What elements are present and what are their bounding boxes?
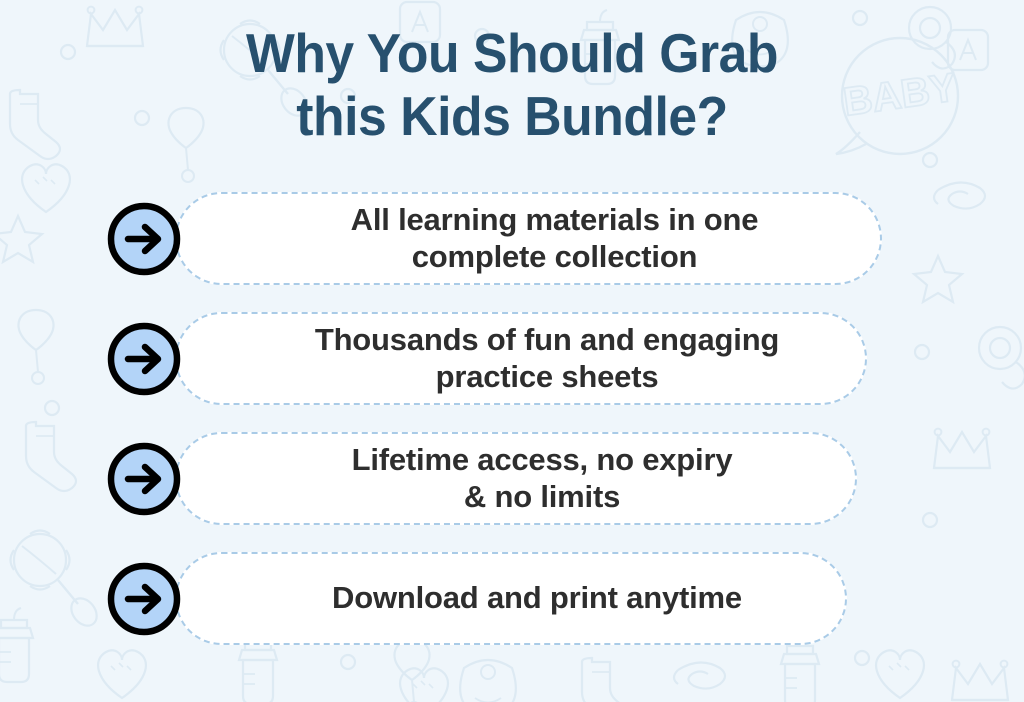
benefit-pill: Thousands of fun and engaging practice s…	[175, 312, 867, 405]
benefit-pill: Download and print anytime	[175, 552, 847, 645]
benefits-list: All learning materials in one complete c…	[0, 192, 1024, 672]
arrow-right-circle-icon	[105, 320, 183, 398]
benefit-label: Thousands of fun and engaging practice s…	[237, 322, 805, 395]
page-title-line-1: Why You Should Grab	[31, 26, 994, 81]
benefit-item: Download and print anytime	[0, 552, 1024, 645]
benefit-label: All learning materials in one complete c…	[273, 202, 785, 275]
arrow-right-circle-icon	[105, 440, 183, 518]
poster-canvas: Why You Should Grab this Kids Bundle? Al…	[0, 0, 1024, 702]
benefit-item: Lifetime access, no expiry & no limits	[0, 432, 1024, 525]
page-title: Why You Should Grab this Kids Bundle?	[0, 26, 1024, 144]
arrow-right-circle-icon	[105, 200, 183, 278]
page-title-line-2: this Kids Bundle?	[31, 89, 994, 144]
benefit-label: Download and print anytime	[254, 580, 768, 617]
benefit-item: All learning materials in one complete c…	[0, 192, 1024, 285]
benefit-label: Lifetime access, no expiry & no limits	[274, 442, 759, 515]
arrow-right-circle-icon	[105, 560, 183, 638]
benefit-pill: All learning materials in one complete c…	[175, 192, 882, 285]
benefit-pill: Lifetime access, no expiry & no limits	[175, 432, 857, 525]
benefit-item: Thousands of fun and engaging practice s…	[0, 312, 1024, 405]
